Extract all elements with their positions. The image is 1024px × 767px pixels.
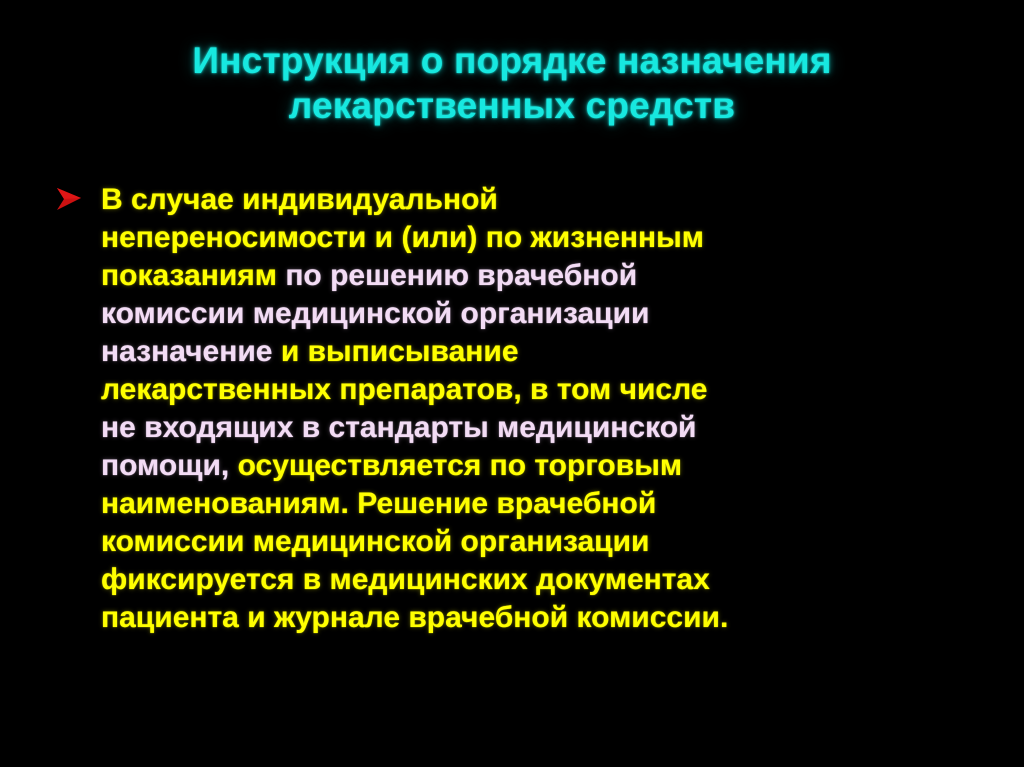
body-line: помощи, осуществляется по торговым — [101, 447, 995, 485]
body-text-segment: В случае индивидуальной — [101, 183, 498, 216]
body-text-segment: осуществляется по торговым — [238, 449, 682, 482]
body-text-segment: наименованиям. Решение врачебной — [101, 487, 656, 520]
body-line: лекарственных препаратов, в том числе — [101, 371, 995, 409]
body-text-segment: помощи, — [101, 449, 238, 482]
presentation-slide: Инструкция о порядке назначения лекарств… — [0, 0, 1024, 767]
body-line: показаниям по решению врачебной — [101, 257, 995, 295]
body-line: В случае индивидуальной — [101, 181, 995, 219]
body-line: пациента и журнале врачебной комиссии. — [101, 599, 995, 637]
body-text-segment: фиксируется в медицинских документах — [101, 563, 710, 596]
body-line: комиссии медицинской организации — [101, 295, 995, 333]
title-line-1: Инструкция о порядке назначения — [70, 38, 954, 83]
body-text-segment: комиссии медицинской организации — [101, 297, 649, 330]
slide-title: Инструкция о порядке назначения лекарств… — [70, 38, 954, 128]
bullet-paragraph: В случае индивидуальнойнепереносимости и… — [55, 181, 995, 637]
body-text-segment: непереносимости и (или) по жизненным — [101, 221, 704, 254]
title-line-2: лекарственных средств — [70, 83, 954, 128]
body-text-segment: показаниям — [101, 259, 285, 292]
body-line: не входящих в стандарты медицинской — [101, 409, 995, 447]
body-line: назначение и выписывание — [101, 333, 995, 371]
body-text-segment: не входящих в стандарты медицинской — [101, 411, 696, 444]
body-text-segment: пациента и журнале врачебной комиссии. — [101, 601, 728, 634]
body-line: непереносимости и (или) по жизненным — [101, 219, 995, 257]
bullet-text-lines: В случае индивидуальнойнепереносимости и… — [101, 181, 995, 637]
body-text-segment: комиссии медицинской организации — [101, 525, 649, 558]
body-line: наименованиям. Решение врачебной — [101, 485, 995, 523]
body-text-segment: лекарственных препаратов, в том числе — [101, 373, 707, 406]
right-arrow-bullet-icon — [55, 186, 85, 212]
body-text-segment: и выписывание — [281, 335, 519, 368]
body-line: фиксируется в медицинских документах — [101, 561, 995, 599]
body-text-segment: по решению врачебной — [285, 259, 637, 292]
body-text-segment: назначение — [101, 335, 281, 368]
body-line: комиссии медицинской организации — [101, 523, 995, 561]
slide-body: В случае индивидуальнойнепереносимости и… — [55, 181, 995, 637]
